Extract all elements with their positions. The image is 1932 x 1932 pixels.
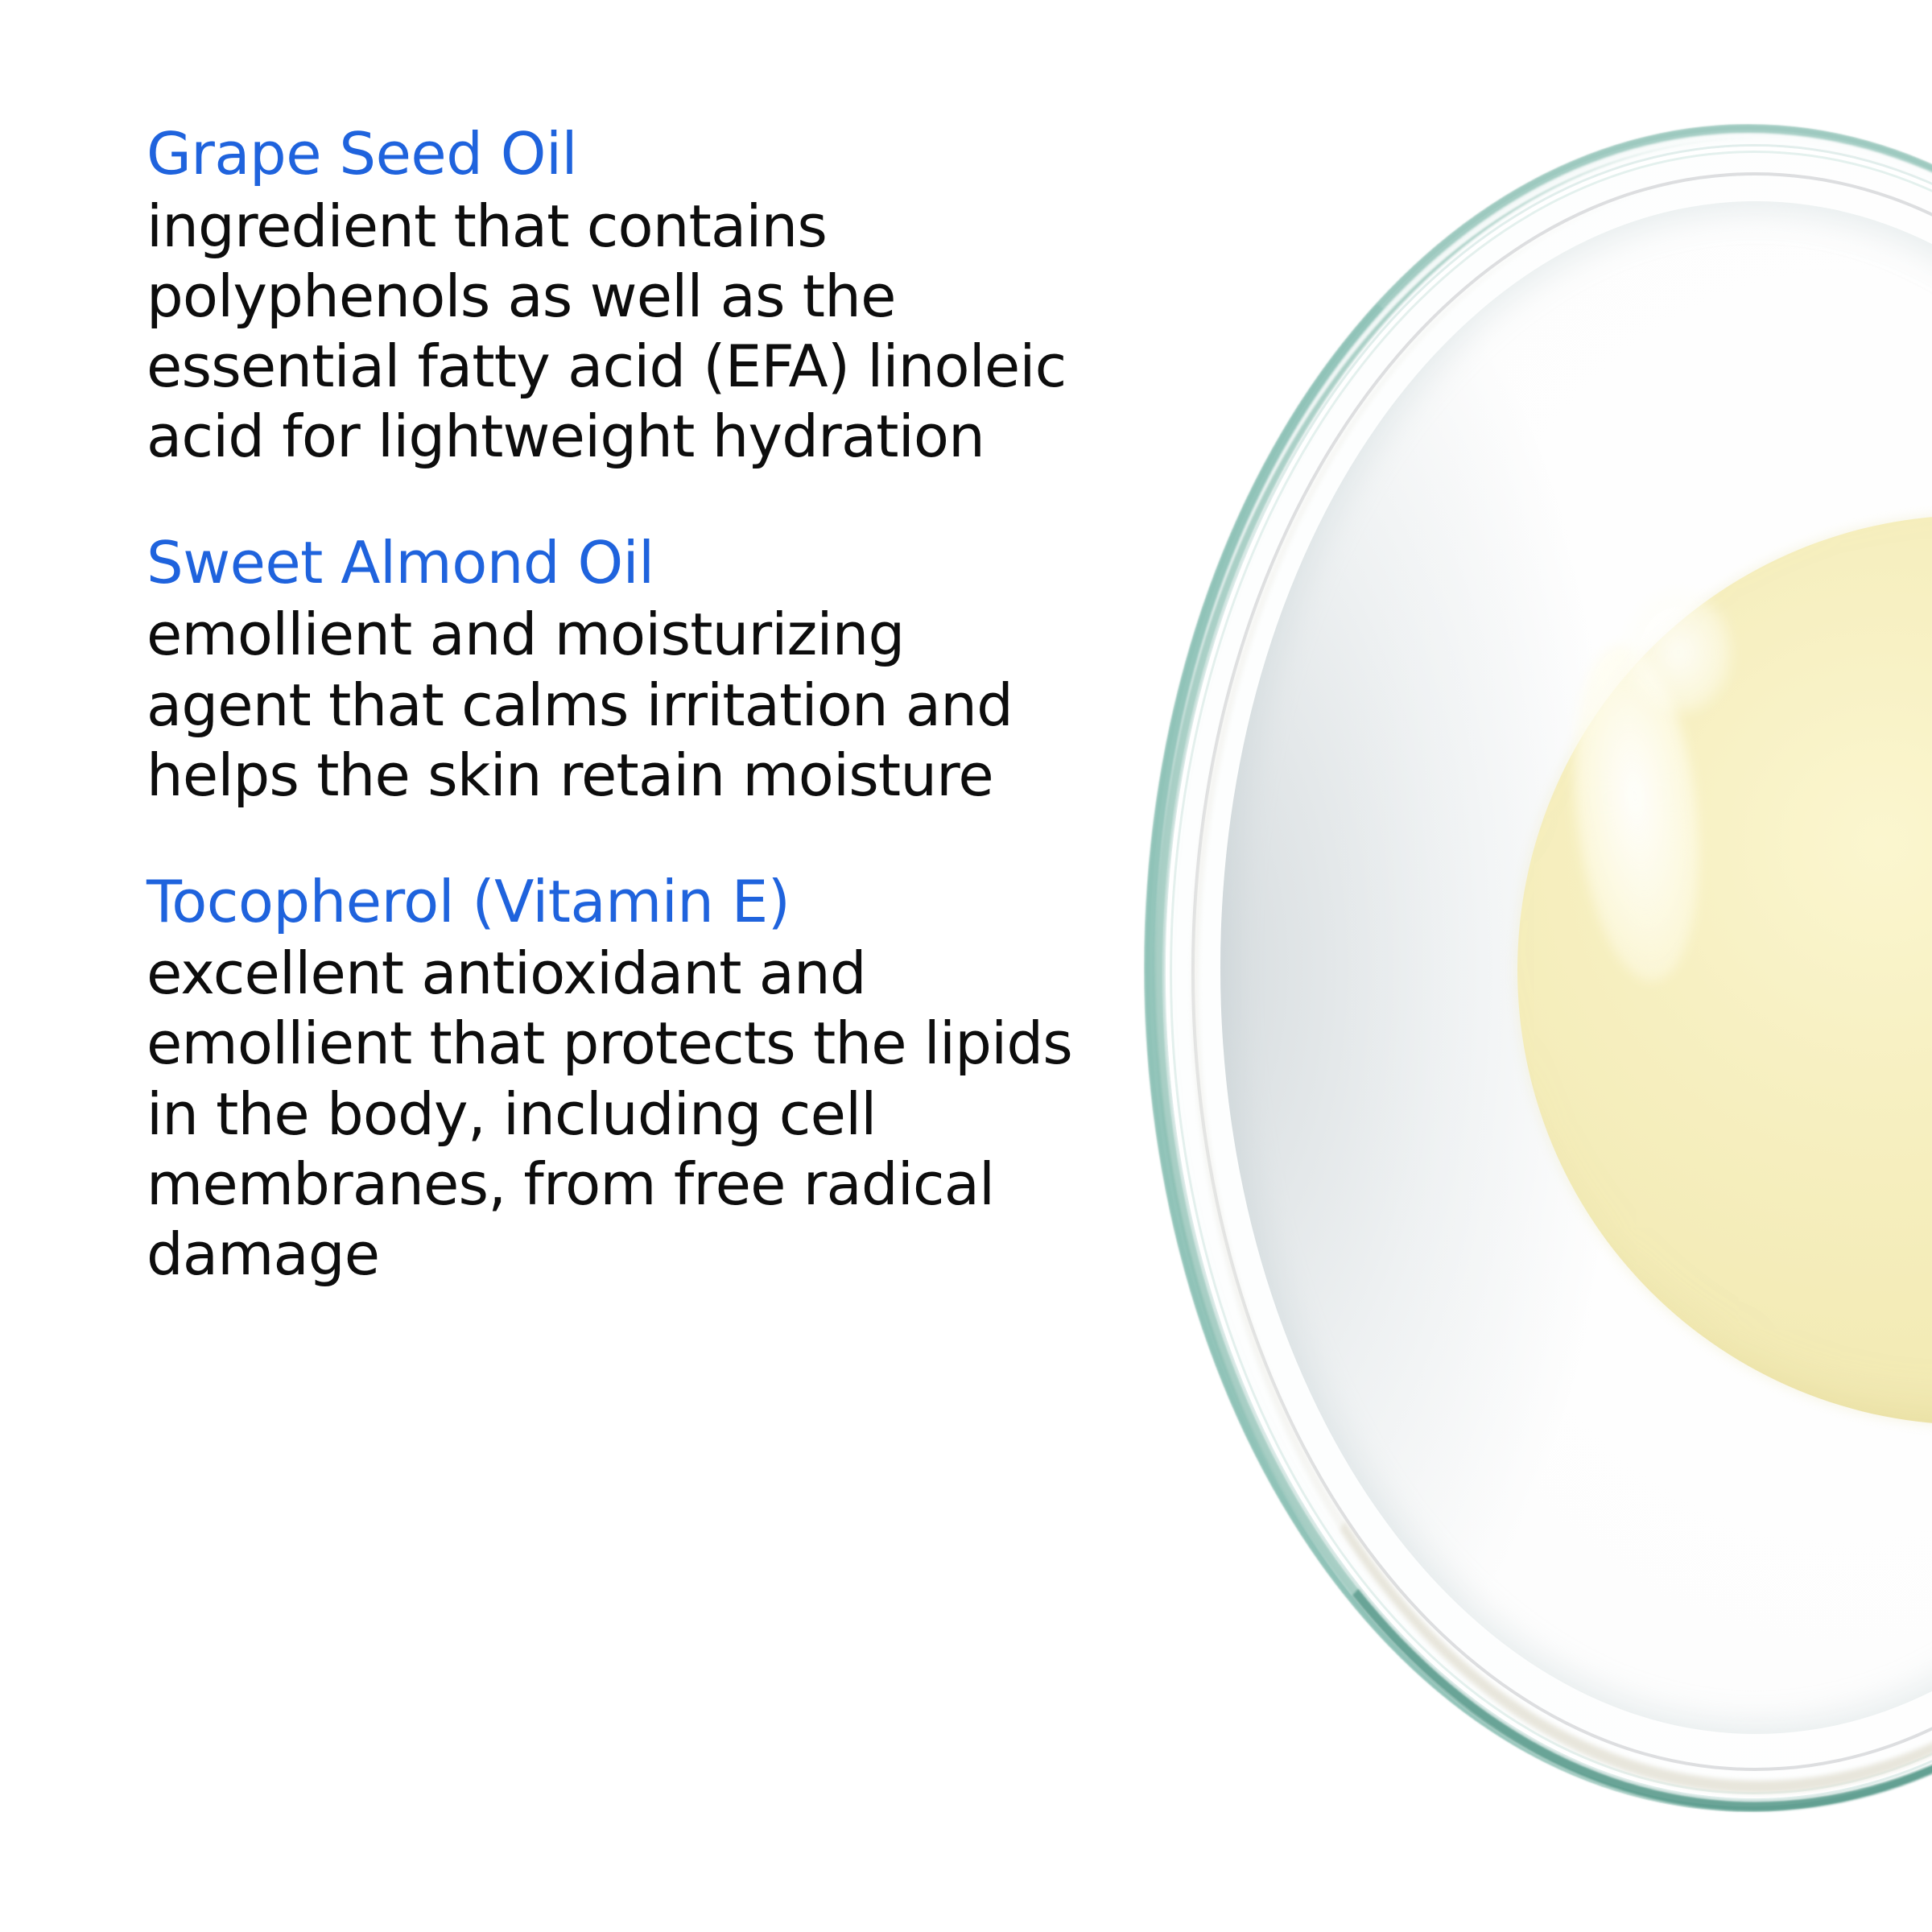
ingredient-name-tocopherol: Tocopherol (Vitamin E) bbox=[147, 869, 1072, 936]
oil-bowl-photo bbox=[1071, 0, 1932, 1932]
ingredient-item-sweet-almond-oil: Sweet Almond Oil emollient and moisturiz… bbox=[147, 530, 1072, 811]
glass-rim-teal-bottom-arc bbox=[1154, 138, 1932, 1811]
ingredient-callout-page: Grape Seed Oil ingredient that contains … bbox=[0, 0, 1932, 1932]
ingredient-description-tocopherol: excellent antioxidant and emollient that… bbox=[147, 939, 1072, 1290]
ingredient-name-sweet-almond-oil: Sweet Almond Oil bbox=[147, 530, 1072, 597]
ingredient-list: Grape Seed Oil ingredient that contains … bbox=[147, 121, 1072, 1290]
ingredient-description-sweet-almond-oil: emollient and moisturizing agent that ca… bbox=[147, 600, 1072, 810]
ingredient-item-grape-seed-oil: Grape Seed Oil ingredient that contains … bbox=[147, 121, 1072, 472]
ingredient-name-grape-seed-oil: Grape Seed Oil bbox=[147, 121, 1072, 188]
ingredient-item-tocopherol: Tocopherol (Vitamin E) excellent antioxi… bbox=[147, 869, 1072, 1290]
ingredient-description-grape-seed-oil: ingredient that contains polyphenols as … bbox=[147, 192, 1072, 472]
